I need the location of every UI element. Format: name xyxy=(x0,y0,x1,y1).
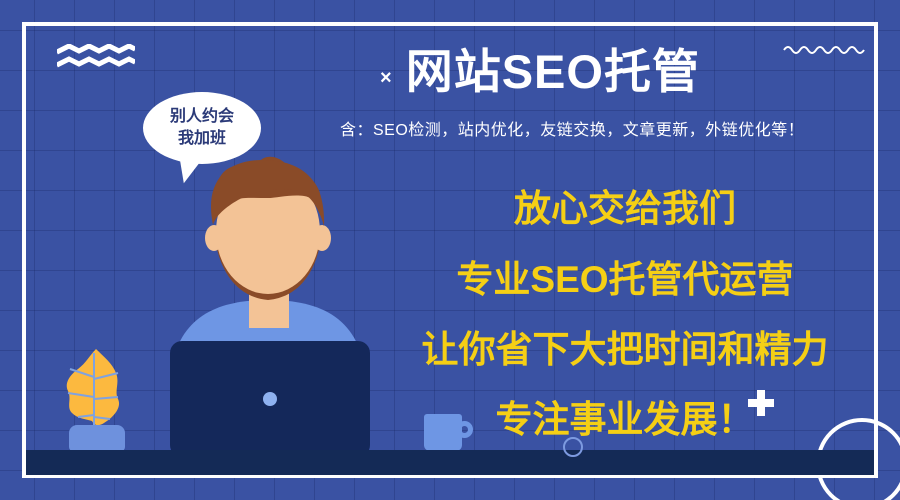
potted-plant-icon xyxy=(60,347,130,429)
headline-line-2: 专业SEO托管代运营 xyxy=(456,261,793,298)
laptop-logo-dot xyxy=(263,392,277,406)
headline-line-3: 让你省下大把时间和精力 xyxy=(422,331,829,368)
seo-poster: × 网站SEO托管 含：SEO检测，站内优化，友链交换，文章更新，外链优化等！ … xyxy=(0,0,900,500)
desk-surface xyxy=(26,450,874,475)
circle-outline-icon xyxy=(563,437,583,457)
laptop xyxy=(170,341,370,457)
speech-bubble: 别人约会 我加班 xyxy=(143,92,261,164)
plant-pot xyxy=(69,425,125,451)
speech-bubble-line-1: 别人约会 xyxy=(170,106,234,128)
speech-bubble-line-2: 我加班 xyxy=(178,128,226,150)
headline-group: 放心交给我们 专业SEO托管代运营 让你省下大把时间和精力 专注事业发展！ xyxy=(400,190,850,438)
headline-line-4: 专注事业发展！ xyxy=(496,401,755,438)
headline-line-1: 放心交给我们 xyxy=(514,190,736,227)
